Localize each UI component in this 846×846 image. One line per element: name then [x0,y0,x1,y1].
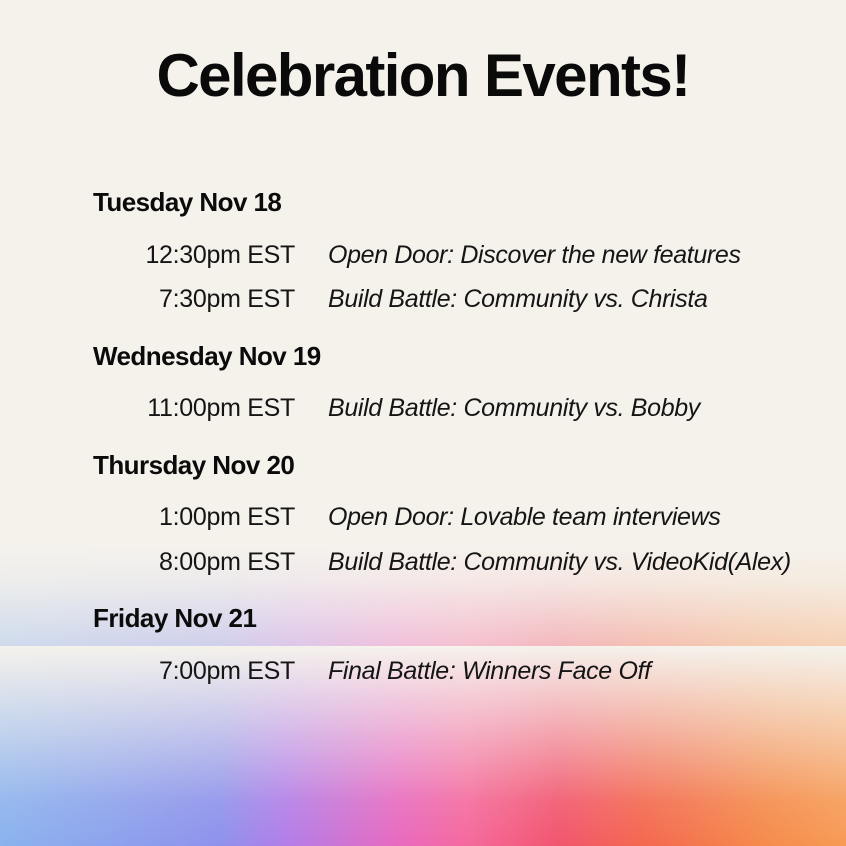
event-description: Open Door: Discover the new features [328,239,741,272]
day-group-wednesday-nov-19: Wednesday Nov 1911:00pm ESTBuild Battle:… [0,322,846,431]
day-group-tuesday-nov-18: Tuesday Nov 1812:30pm ESTOpen Door: Disc… [0,168,846,322]
event-row: 8:00pm ESTBuild Battle: Community vs. Vi… [0,540,846,585]
event-row: 12:30pm ESTOpen Door: Discover the new f… [0,233,846,278]
event-time: 8:00pm EST [0,546,295,579]
event-time: 11:00pm EST [0,392,295,425]
event-row: 7:00pm ESTFinal Battle: Winners Face Off [0,649,846,694]
event-row: 7:30pm ESTBuild Battle: Community vs. Ch… [0,277,846,322]
event-time: 7:30pm EST [0,283,295,316]
event-description: Open Door: Lovable team interviews [328,501,720,534]
event-description: Build Battle: Community vs. Bobby [328,392,700,425]
day-heading-tuesday-nov-18: Tuesday Nov 18 [93,168,846,233]
event-description: Final Battle: Winners Face Off [328,655,651,688]
event-poster: Celebration Events! Tuesday Nov 1812:30p… [0,0,846,846]
day-group-friday-nov-21: Friday Nov 217:00pm ESTFinal Battle: Win… [0,584,846,693]
page-title: Celebration Events! [0,44,846,107]
day-heading-wednesday-nov-19: Wednesday Nov 19 [93,322,846,387]
event-time: 12:30pm EST [0,239,295,272]
event-description: Build Battle: Community vs. Christa [328,283,708,316]
day-group-thursday-nov-20: Thursday Nov 201:00pm ESTOpen Door: Lova… [0,431,846,585]
event-time: 7:00pm EST [0,655,295,688]
event-row: 1:00pm ESTOpen Door: Lovable team interv… [0,495,846,540]
schedule-list: Tuesday Nov 1812:30pm ESTOpen Door: Disc… [0,168,846,693]
event-time: 1:00pm EST [0,501,295,534]
event-row: 11:00pm ESTBuild Battle: Community vs. B… [0,386,846,431]
day-heading-friday-nov-21: Friday Nov 21 [93,584,846,649]
event-description: Build Battle: Community vs. VideoKid(Ale… [328,546,791,579]
day-heading-thursday-nov-20: Thursday Nov 20 [93,431,846,496]
